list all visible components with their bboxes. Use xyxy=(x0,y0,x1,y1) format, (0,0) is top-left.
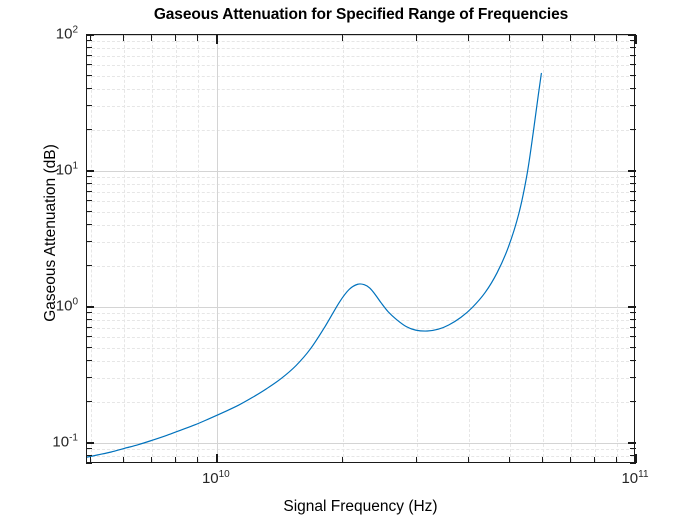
y-tick xyxy=(86,442,94,444)
y-tick-right xyxy=(630,211,636,212)
x-tick xyxy=(616,457,617,463)
y-tick-right xyxy=(630,55,636,56)
x-tick-top xyxy=(542,35,543,41)
x-tick-top xyxy=(635,35,637,44)
y-tick xyxy=(86,455,92,456)
y-tick xyxy=(86,55,92,56)
y-tick xyxy=(86,129,92,130)
x-tick-top xyxy=(468,35,469,41)
x-tick-top xyxy=(509,35,510,41)
y-tick-right xyxy=(630,336,636,337)
y-tick xyxy=(86,183,92,184)
y-tick-right xyxy=(630,200,636,201)
y-tick xyxy=(86,463,92,464)
plot-area xyxy=(86,34,635,463)
y-tick xyxy=(86,191,92,192)
y-tick-right xyxy=(630,47,636,48)
y-tick-right xyxy=(630,176,636,177)
x-tick-label: 1011 xyxy=(621,470,648,487)
y-tick-right xyxy=(630,360,636,361)
y-tick-right xyxy=(630,105,636,106)
x-tick-top xyxy=(197,35,198,41)
x-tick-top xyxy=(175,35,176,41)
x-tick xyxy=(216,454,218,463)
x-tick xyxy=(416,457,417,463)
x-tick-top xyxy=(151,35,152,41)
x-tick xyxy=(594,457,595,463)
y-tick-right xyxy=(630,319,636,320)
x-tick-top xyxy=(90,35,91,41)
y-tick-right xyxy=(628,442,636,444)
x-tick-top xyxy=(616,35,617,41)
x-tick-top xyxy=(342,35,343,41)
y-tick-right xyxy=(630,401,636,402)
y-tick xyxy=(86,64,92,65)
x-tick-top xyxy=(123,35,124,41)
y-tick xyxy=(86,347,92,348)
x-tick xyxy=(542,457,543,463)
x-tick-top xyxy=(216,35,218,44)
y-tick-right xyxy=(630,265,636,266)
x-tick-top xyxy=(570,35,571,41)
x-tick xyxy=(570,457,571,463)
attenuation-curve xyxy=(87,73,541,457)
y-tick-right xyxy=(630,241,636,242)
x-tick xyxy=(635,454,637,463)
x-tick xyxy=(90,457,91,463)
y-tick-right xyxy=(630,312,636,313)
x-tick-top xyxy=(594,35,595,41)
y-tick-right xyxy=(628,306,636,308)
x-tick xyxy=(197,457,198,463)
y-tick xyxy=(86,75,92,76)
y-axis-label: Gaseous Attenuation (dB) xyxy=(42,18,60,448)
y-tick-right xyxy=(630,191,636,192)
y-tick xyxy=(86,312,92,313)
y-tick xyxy=(86,327,92,328)
y-tick xyxy=(86,319,92,320)
y-tick xyxy=(86,105,92,106)
x-tick xyxy=(123,457,124,463)
y-tick-right xyxy=(630,64,636,65)
y-tick xyxy=(86,47,92,48)
x-tick-top xyxy=(416,35,417,41)
y-tick xyxy=(86,200,92,201)
y-tick-right xyxy=(630,347,636,348)
matlab-figure: Gaseous Attenuation for Specified Range … xyxy=(0,0,700,525)
y-tick-right xyxy=(630,224,636,225)
y-tick xyxy=(86,377,92,378)
x-tick-label: 1010 xyxy=(202,470,230,487)
y-tick-right xyxy=(630,129,636,130)
y-tick xyxy=(86,88,92,89)
x-tick xyxy=(342,457,343,463)
y-tick xyxy=(86,40,92,41)
x-tick xyxy=(509,457,510,463)
y-tick-right xyxy=(630,327,636,328)
y-tick-right xyxy=(630,75,636,76)
page-title: Gaseous Attenuation for Specified Range … xyxy=(86,6,636,24)
x-tick xyxy=(175,457,176,463)
x-tick xyxy=(151,457,152,463)
y-tick xyxy=(86,224,92,225)
y-tick-right xyxy=(628,170,636,172)
y-tick xyxy=(86,170,94,172)
y-tick xyxy=(86,401,92,402)
y-tick-right xyxy=(630,448,636,449)
y-tick xyxy=(86,176,92,177)
y-tick xyxy=(86,448,92,449)
y-tick xyxy=(86,265,92,266)
data-curve-svg xyxy=(87,35,634,462)
y-tick xyxy=(86,211,92,212)
y-tick-right xyxy=(630,377,636,378)
y-tick-right xyxy=(630,183,636,184)
y-tick xyxy=(86,306,94,308)
x-tick xyxy=(468,457,469,463)
x-axis-label: Signal Frequency (Hz) xyxy=(86,498,635,516)
y-tick-right xyxy=(630,88,636,89)
y-tick xyxy=(86,241,92,242)
y-tick xyxy=(86,336,92,337)
y-tick xyxy=(86,360,92,361)
y-tick-right xyxy=(630,463,636,464)
